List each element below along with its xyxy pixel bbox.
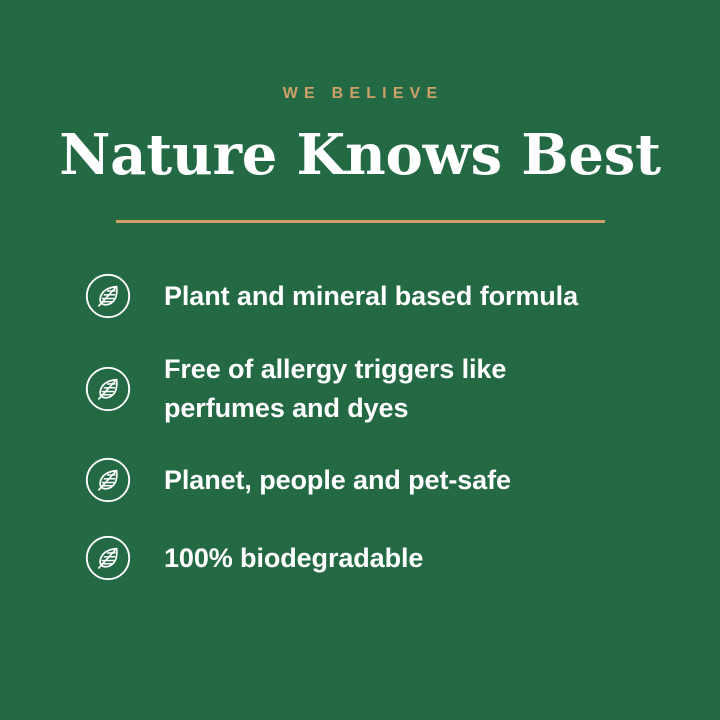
- feature-list: Plant and mineral based formula Free of …: [84, 272, 684, 582]
- feature-label: Plant and mineral based formula: [164, 277, 578, 316]
- accent-divider: [116, 220, 605, 223]
- eyebrow-text: WE BELIEVE: [0, 84, 720, 104]
- list-item: 100% biodegradable: [84, 534, 684, 582]
- leaf-in-circle-icon: [84, 272, 132, 320]
- feature-label: Free of allergy triggers like perfumes a…: [164, 350, 584, 428]
- feature-label: Planet, people and pet-safe: [164, 461, 511, 500]
- leaf-in-circle-icon: [84, 456, 132, 504]
- page-title: Nature Knows Best: [0, 122, 720, 188]
- leaf-in-circle-icon: [84, 365, 132, 413]
- promo-poster: WE BELIEVE Nature Knows Best Plant and m…: [0, 0, 720, 720]
- list-item: Plant and mineral based formula: [84, 272, 684, 320]
- list-item: Planet, people and pet-safe: [84, 456, 684, 504]
- list-item: Free of allergy triggers like perfumes a…: [84, 350, 684, 428]
- feature-label: 100% biodegradable: [164, 539, 423, 578]
- leaf-in-circle-icon: [84, 534, 132, 582]
